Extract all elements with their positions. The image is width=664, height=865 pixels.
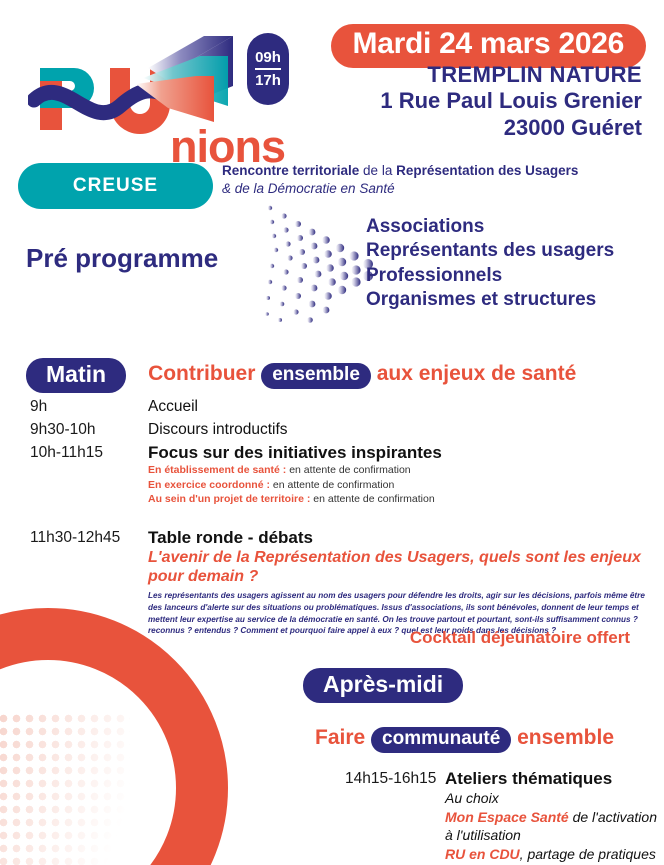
audience-item: Associations — [366, 215, 614, 239]
hours-start: 09h — [255, 49, 281, 66]
afternoon-pill: Après-midi — [303, 668, 463, 703]
focus-subline-value: en attente de confirmation — [270, 479, 394, 491]
afternoon-schedule: 14h15-16h15 Ateliers thématiques Au choi… — [345, 768, 664, 865]
schedule-row: 9h Accueil — [30, 396, 650, 418]
subtitle-line-1: Rencontre territoriale de la Représentat… — [222, 163, 652, 180]
focus-subline-label: En exercice coordonné : — [148, 479, 270, 491]
schedule-title: Accueil — [148, 396, 650, 418]
focus-subline-label: En établissement de santé : — [148, 464, 286, 476]
morning-section-header: Matin Contribuer ensemble aux enjeux de … — [26, 358, 576, 393]
schedule-title: Table ronde - débats — [148, 527, 650, 548]
afternoon-theme: Faire communauté ensemble — [315, 726, 614, 753]
schedule-row: 10h-11h15 Focus sur des initiatives insp… — [30, 442, 650, 507]
schedule-time: 10h-11h15 — [30, 442, 148, 507]
ateliers-option-value: , partage de pratiques — [520, 846, 656, 862]
ateliers-choice: Au choix — [445, 789, 664, 807]
schedule-body: Table ronde - débats L'avenir de la Repr… — [148, 527, 650, 637]
subtitle-light-1: de la — [359, 163, 396, 178]
afternoon-theme-pill: communauté — [371, 727, 511, 753]
schedule-time: 9h — [30, 396, 148, 418]
morning-theme-pill: ensemble — [261, 363, 371, 389]
schedule-body: Accueil — [148, 396, 650, 418]
focus-subline-value: en attente de confirmation — [286, 464, 410, 476]
subtitle-bold-2: Représentation des Usagers — [396, 163, 578, 178]
focus-subline: En établissement de santé : en attente d… — [148, 463, 650, 477]
hours-badge: 09h 17h — [247, 33, 289, 105]
poster-root: nions 09h 17h Mardi 24 mars 2026 TREMPLI… — [0, 0, 664, 865]
hours-end: 17h — [255, 72, 281, 89]
schedule-row: 14h15-16h15 Ateliers thématiques Au choi… — [345, 768, 664, 865]
afternoon-section-header: Après-midi — [303, 668, 463, 703]
decorative-dot-pattern — [0, 712, 130, 865]
table-ronde-question: L'avenir de la Représentation des Usager… — [148, 548, 650, 586]
event-date-pill: Mardi 24 mars 2026 — [331, 24, 646, 68]
audience-item: Représentants des usagers — [366, 239, 614, 263]
audience-item: Organismes et structures — [366, 288, 614, 312]
ateliers-option-label: RU en CDU — [445, 846, 520, 862]
schedule-row: 11h30-12h45 Table ronde - débats L'aveni… — [30, 527, 650, 637]
schedule-time: 11h30-12h45 — [30, 527, 148, 637]
venue-street: 1 Rue Paul Louis Grenier — [380, 88, 642, 114]
morning-theme-before: Contribuer — [148, 362, 261, 385]
focus-subline-value: en attente de confirmation — [310, 493, 434, 505]
ateliers-option-label: Mon Espace Santé — [445, 809, 569, 825]
morning-schedule: 9h Accueil 9h30-10h Discours introductif… — [30, 396, 650, 638]
schedule-row: 9h30-10h Discours introductifs — [30, 419, 650, 441]
afternoon-theme-before: Faire — [315, 726, 371, 749]
decorative-dot-pattern-clip — [0, 608, 228, 865]
focus-subline: Au sein d'un projet de territoire : en a… — [148, 492, 650, 506]
morning-theme-after: aux enjeux de santé — [371, 362, 576, 385]
cocktail-note: Cocktail déjeunatoire offert — [410, 628, 630, 648]
poster-header: nions 09h 17h Mardi 24 mars 2026 TREMPLI… — [0, 0, 664, 150]
ateliers-option: Mon Espace Santé de l'activation à l'uti… — [445, 808, 664, 845]
schedule-title: Discours introductifs — [148, 419, 650, 441]
schedule-body: Ateliers thématiques Au choix Mon Espace… — [445, 768, 664, 865]
schedule-body: Discours introductifs — [148, 419, 650, 441]
hours-separator — [255, 68, 281, 70]
focus-subline-label: Au sein d'un projet de territoire : — [148, 493, 310, 505]
subtitle-line-2: & de la Démocratie en Santé — [222, 180, 652, 198]
subtitle-bold-1: Rencontre territoriale — [222, 163, 359, 178]
schedule-title: Focus sur des initiatives inspirantes — [148, 442, 650, 463]
chevron-dots-icon — [262, 200, 382, 330]
schedule-body: Focus sur des initiatives inspirantes En… — [148, 442, 650, 507]
preprogramme-title: Pré programme — [26, 243, 218, 274]
focus-subline: En exercice coordonné : en attente de co… — [148, 478, 650, 492]
morning-pill: Matin — [26, 358, 126, 393]
region-badge-creuse: CREUSE — [18, 163, 213, 209]
venue-name: TREMPLIN NATURE — [380, 62, 642, 88]
event-subtitle: Rencontre territoriale de la Représentat… — [222, 163, 652, 198]
afternoon-theme-after: ensemble — [511, 726, 614, 749]
venue-city: 23000 Guéret — [380, 115, 642, 141]
audience-list: Associations Représentants des usagers P… — [366, 215, 614, 312]
schedule-title: Ateliers thématiques — [445, 768, 664, 789]
audience-item: Professionnels — [366, 264, 614, 288]
venue-address: TREMPLIN NATURE 1 Rue Paul Louis Grenier… — [380, 62, 642, 141]
schedule-time: 14h15-16h15 — [345, 768, 445, 865]
schedule-time: 9h30-10h — [30, 419, 148, 441]
morning-theme: Contribuer ensemble aux enjeux de santé — [148, 362, 576, 389]
ateliers-option: RU en CDU, partage de pratiques — [445, 845, 664, 863]
